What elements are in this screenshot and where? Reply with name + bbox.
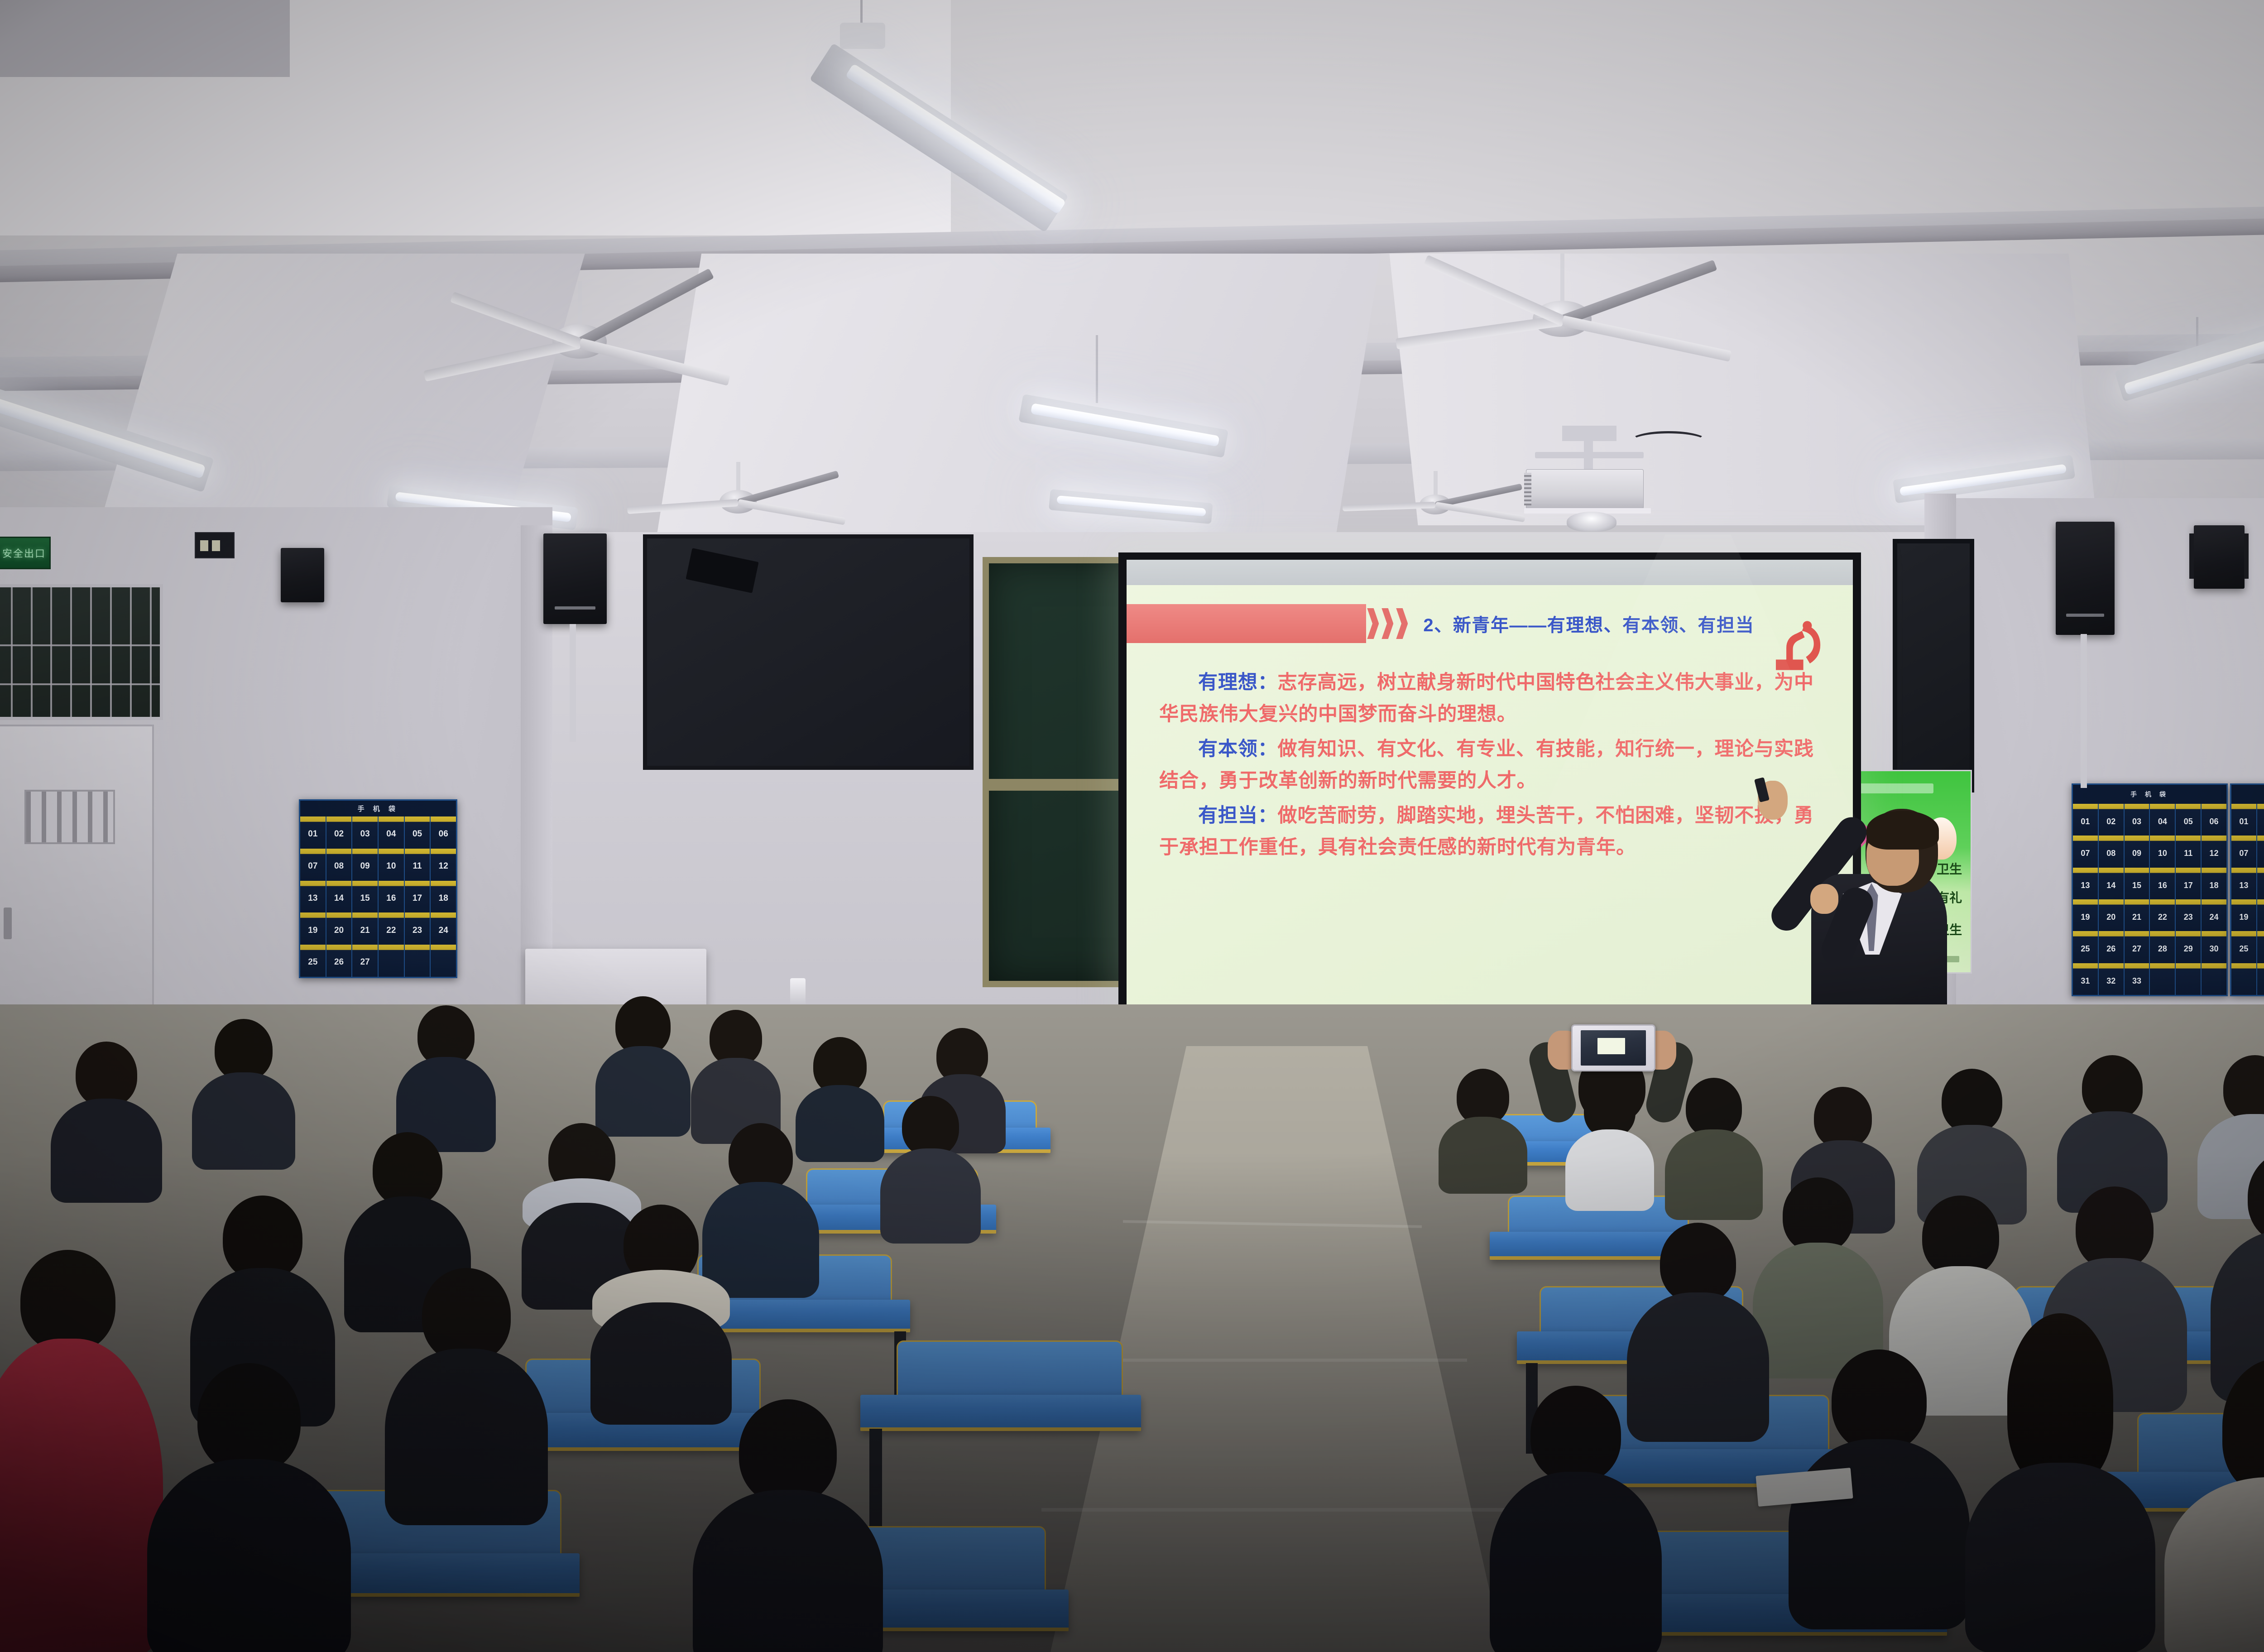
pocket-cell: 16 (2150, 868, 2176, 899)
tube-mount-1 (840, 23, 885, 49)
slide-separator-2: ： (1258, 738, 1278, 760)
pocket-cell: 12 (2202, 836, 2226, 867)
pocket-cell: 07 (2231, 836, 2257, 867)
person (54, 1042, 158, 1200)
pocket-chart-row: 25 26 27 28 29 30 (2231, 931, 2264, 963)
person (697, 1399, 878, 1652)
pocket-cell: 04 (379, 816, 405, 849)
person-head (1530, 1386, 1621, 1483)
slide-title-accent-bar (1127, 604, 1366, 643)
pocket-cell: 17 (405, 881, 431, 913)
window-bars (0, 587, 160, 717)
left-window (0, 584, 163, 720)
pocket-cell (2150, 963, 2176, 995)
slide-chevrons-icon (1364, 608, 1408, 639)
pocket-chart-title: 手 机 袋 (2073, 785, 2226, 804)
ceiling-fan-2 (1358, 254, 1766, 380)
person (1666, 1078, 1761, 1214)
pocket-cell (2176, 963, 2202, 995)
pocket-cell: 31 (2073, 963, 2099, 995)
pocket-cell: 26 (326, 945, 353, 977)
pocket-cell: 25 (2231, 931, 2257, 963)
pocket-cell: 18 (2202, 868, 2226, 899)
pocket-cell: 03 (2125, 804, 2150, 836)
pocket-cell: 14 (2257, 868, 2264, 899)
slide-body: 有理想：志存高远，树立献身新时代中国特色社会主义伟大事业，为中华民族伟大复兴的中… (1159, 667, 1820, 1025)
speaker-bracket (2244, 533, 2249, 579)
person-head (1832, 1349, 1927, 1452)
slide-title: 2、新青年——有理想、有本领、有担当 (1423, 610, 1754, 637)
pocket-cell: 18 (431, 881, 456, 913)
person (398, 1005, 494, 1150)
pocket-chart-row: 01 02 03 04 05 06 (2231, 804, 2264, 836)
pocket-cell: 22 (379, 912, 405, 945)
pocket-cell: 19 (2231, 899, 2257, 931)
ceiling (0, 0, 2264, 557)
pocket-cell: 12 (431, 849, 456, 881)
person-head (2082, 1055, 2143, 1119)
pocket-cell: 10 (2150, 836, 2176, 867)
pocket-cell: 20 (2099, 899, 2125, 931)
person-torso-light (2164, 1477, 2264, 1652)
pocket-cell: 23 (2176, 899, 2202, 931)
person-torso (1789, 1439, 1970, 1629)
pocket-chart-title: 手 机 袋 (300, 801, 456, 816)
fan-blade (577, 268, 714, 348)
pocket-chart-row: 07 08 09 10 11 12 (300, 849, 456, 881)
person (693, 1010, 779, 1141)
pocket-cell: 17 (2176, 868, 2202, 899)
pocket-cell (2231, 963, 2257, 995)
person-head (215, 1019, 273, 1081)
pocket-cell: 25 (2073, 931, 2099, 963)
exit-sign: 安全出口 (0, 537, 51, 569)
person (1440, 1069, 1526, 1186)
pocket-cell (2202, 963, 2226, 995)
pocket-cell: 14 (326, 881, 353, 913)
door-grille (24, 790, 115, 844)
speaker-brand-label (555, 606, 595, 610)
person-torso (693, 1490, 883, 1652)
slide-top-band (1127, 560, 1853, 585)
person-torso (147, 1459, 351, 1652)
person-red-jacket (0, 1250, 154, 1652)
electrical-box-left (195, 532, 235, 558)
person (195, 1019, 292, 1168)
slide-separator-1: ： (1258, 672, 1278, 693)
person-torso (1665, 1129, 1763, 1220)
pocket-cell: 23 (405, 912, 431, 945)
pocket-chart-row: 13 14 15 16 17 18 (2231, 868, 2264, 899)
pocket-chart-row: 19 20 21 22 23 24 (2231, 899, 2264, 931)
fan-blade (627, 499, 739, 514)
pocket-cell: 08 (2257, 836, 2264, 867)
person-head (20, 1250, 115, 1352)
desk (860, 1395, 1141, 1431)
speaker-bracket (2189, 533, 2194, 579)
pocket-chart-row: 07 08 09 10 11 12 (2073, 836, 2226, 867)
fan-blade (1561, 315, 1732, 361)
person-long-hair (1970, 1313, 2151, 1648)
pocket-cell: 29 (2176, 931, 2202, 963)
wall-speaker-right-1 (2056, 522, 2115, 635)
person-torso (385, 1349, 548, 1525)
pocket-chart-title: 手 机 袋 (2231, 785, 2264, 804)
person-head (1783, 1177, 1853, 1253)
pocket-cell (405, 945, 431, 977)
person-torso (1965, 1463, 2155, 1652)
person-head (2007, 1313, 2113, 1485)
pocket-cell: 09 (352, 849, 379, 881)
slide-paragraph-3: 有担当：做吃苦耐劳，脚踏实地，埋头苦干，不怕困难，坚韧不拔，勇于承担工作重任，具… (1159, 800, 1820, 863)
pocket-cell: 08 (2099, 836, 2125, 867)
presentation-slide: 2、新青年——有理想、有本领、有担当 有理想：志存高远，树立献身新时代中国特色社… (1127, 560, 1853, 1071)
slide-separator-3: ： (1258, 805, 1278, 826)
pocket-cell: 13 (300, 881, 326, 913)
projector-lens (1567, 512, 1616, 532)
fan-blade (423, 338, 580, 381)
person-torso (1439, 1117, 1527, 1194)
person (598, 996, 688, 1132)
pocket-cell: 13 (2231, 868, 2257, 899)
person (2060, 1055, 2164, 1205)
person (1494, 1386, 1657, 1652)
pocket-cell: 20 (326, 912, 353, 945)
ceiling-fan-1 (408, 281, 752, 399)
fan-blade (450, 292, 581, 348)
pocket-cell: 01 (2073, 804, 2099, 836)
fan-blade (578, 338, 730, 386)
fan-blade (1396, 315, 1563, 349)
person-head (2223, 1055, 2264, 1122)
pocket-cell: 10 (379, 849, 405, 881)
pocket-cell: 03 (352, 816, 379, 849)
person-head (76, 1042, 137, 1107)
pocket-chart-row: 13 14 15 16 17 18 (300, 881, 456, 913)
person-head (1660, 1223, 1736, 1303)
slide-title-row: 2、新青年——有理想、有本领、有担当 (1127, 591, 1853, 657)
person-head (2076, 1186, 2154, 1270)
pocket-cell: 13 (2073, 868, 2099, 899)
presenter-hair (1866, 811, 1939, 850)
fan-blade (1343, 502, 1435, 511)
pocket-cell: 07 (2073, 836, 2099, 867)
pocket-cell: 05 (405, 816, 431, 849)
person (2214, 1150, 2264, 1395)
pocket-cell: 15 (352, 881, 379, 913)
wall-speaker-left-1 (543, 533, 607, 624)
person-head (422, 1268, 511, 1362)
pocket-chart-right-a: 手 机 袋 01 02 03 04 05 06 07 08 09 10 11 1… (2072, 783, 2228, 996)
fan-blade (1424, 255, 1564, 326)
pocket-chart-row: 01 02 03 04 05 06 (2073, 804, 2226, 836)
person-head (2248, 1150, 2264, 1244)
pocket-cell: 21 (352, 912, 379, 945)
phone-screen (1581, 1030, 1646, 1066)
pocket-cell: 08 (326, 849, 353, 881)
pocket-cell: 20 (2257, 899, 2264, 931)
ceiling-corner-shadow (0, 0, 290, 77)
fan-blade (1560, 260, 1717, 326)
pocket-cell: 11 (2176, 836, 2202, 867)
wall-dark-panel (1893, 539, 1974, 792)
tube-hanger-3 (1096, 335, 1098, 403)
person-head (1942, 1069, 2002, 1133)
pocket-cell (379, 945, 405, 977)
pocket-chart-left: 手 机 袋 01 02 03 04 05 06 07 08 09 10 11 1… (299, 799, 457, 978)
slide-keyword-1: 有理想 (1198, 672, 1258, 693)
pocket-cell: 07 (300, 849, 326, 881)
slide-keyword-3: 有担当 (1198, 805, 1258, 826)
pocket-cell: 06 (2202, 804, 2226, 836)
person-head (1686, 1078, 1742, 1138)
pocket-cell: 24 (2202, 899, 2226, 931)
pocket-cell: 19 (2073, 899, 2099, 931)
pocket-chart-row: 07 08 09 10 11 12 (2231, 836, 2264, 867)
fan-blade (738, 499, 846, 525)
floor-tile-line (1041, 1508, 1517, 1512)
person-head (729, 1123, 793, 1191)
pocket-chart-row: 25 26 27 28 29 30 (2073, 931, 2226, 963)
person-torso (880, 1148, 981, 1244)
person-head (197, 1363, 301, 1474)
fan-blade (737, 471, 839, 506)
speaker-brand-label (2066, 614, 2104, 617)
person-head (1814, 1087, 1872, 1148)
person-torso (1490, 1472, 1662, 1652)
slide-paragraph-2: 有本领：做有知识、有文化、有专业、有技能，知行统一，理论与实践结合，勇于改革创新… (1159, 734, 1820, 797)
projector-vents (1524, 473, 1531, 505)
pocket-cell: 01 (300, 816, 326, 849)
person-head (373, 1132, 442, 1206)
pocket-chart-row: 25 26 27 (300, 945, 456, 977)
pocket-cell: 14 (2099, 868, 2125, 899)
pocket-cell: 02 (2257, 804, 2264, 836)
pocket-cell: 26 (2257, 931, 2264, 963)
pocket-cell: 24 (431, 912, 456, 945)
pocket-cell: 22 (2150, 899, 2176, 931)
pocket-cell: 26 (2099, 931, 2125, 963)
person-torso (192, 1072, 295, 1170)
pocket-cell: 21 (2125, 899, 2150, 931)
pocket-chart-row: 13 14 15 16 17 18 (2073, 868, 2226, 899)
pocket-cell: 04 (2150, 804, 2176, 836)
pocket-cell (431, 945, 456, 977)
presenter-hand-lower (1810, 884, 1838, 914)
slide-paragraph-1: 有理想：志存高远，树立献身新时代中国特色社会主义伟大事业，为中华民族伟大复兴的中… (1159, 667, 1820, 730)
pocket-cell: 33 (2125, 963, 2150, 995)
wall-speaker-right-2 (2194, 525, 2245, 589)
pocket-cell: 01 (2231, 804, 2257, 836)
pocket-chart-right-b: 手 机 袋 01 02 03 04 05 06 07 08 09 10 11 1… (2230, 783, 2264, 996)
pocket-cell: 02 (326, 816, 353, 849)
pocket-cell: 09 (2125, 836, 2150, 867)
person-torso (51, 1099, 162, 1203)
pocket-cell: 16 (379, 881, 405, 913)
projection-screen: 2、新青年——有理想、有本领、有担当 有理想：志存高远，树立献身新时代中国特色社… (1118, 552, 1861, 1078)
person-white-coat (2173, 1359, 2264, 1652)
exit-sign-label: 安全出口 (2, 546, 46, 560)
speaker-conduit-left (570, 624, 576, 742)
speaker-conduit-right (2081, 634, 2087, 788)
person-torso (0, 1339, 163, 1652)
ceiling-projector (1481, 426, 1716, 539)
pocket-chart-row: 32 33 34 35 (2231, 963, 2264, 995)
pocket-cell: 06 (431, 816, 456, 849)
pocket-chart-row: 31 32 33 (2073, 963, 2226, 995)
slide-keyword-2: 有本领 (1198, 738, 1258, 760)
pocket-cell: 02 (2099, 804, 2125, 836)
wall-speaker-left-2 (281, 548, 324, 602)
person-head (902, 1096, 959, 1157)
pocket-chart-row: 01 02 03 04 05 06 (300, 816, 456, 849)
pocket-cell: 27 (2125, 931, 2150, 963)
person (154, 1363, 344, 1652)
pocket-cell: 19 (300, 912, 326, 945)
pocket-cell: 32 (2099, 963, 2125, 995)
person (883, 1096, 978, 1241)
person-head (739, 1399, 837, 1504)
door-handle[interactable] (4, 908, 12, 939)
lecture-hall-scene: 安全出口 手 机 袋 01 02 03 04 (0, 0, 2264, 1652)
pocket-chart-row: 19 20 21 22 23 24 (300, 912, 456, 945)
floor-tile-line (1087, 1359, 1467, 1362)
pocket-cell: 30 (2202, 931, 2226, 963)
pocket-chart-row: 19 20 21 22 23 24 (2073, 899, 2226, 931)
person (389, 1268, 543, 1522)
pocket-cell: 15 (2125, 868, 2150, 899)
person-head (2222, 1359, 2264, 1494)
phone-camera[interactable] (1571, 1024, 1655, 1071)
person-head (1922, 1196, 1999, 1277)
pocket-cell: 05 (2176, 804, 2202, 836)
pocket-cell: 25 (300, 945, 326, 977)
pocket-cell: 27 (352, 945, 379, 977)
projector-body (1526, 469, 1644, 509)
person (593, 1205, 729, 1417)
pocket-cell: 28 (2150, 931, 2176, 963)
person (1757, 1177, 1879, 1372)
pocket-cell: 11 (405, 849, 431, 881)
pocket-cell: 32 (2257, 963, 2264, 995)
